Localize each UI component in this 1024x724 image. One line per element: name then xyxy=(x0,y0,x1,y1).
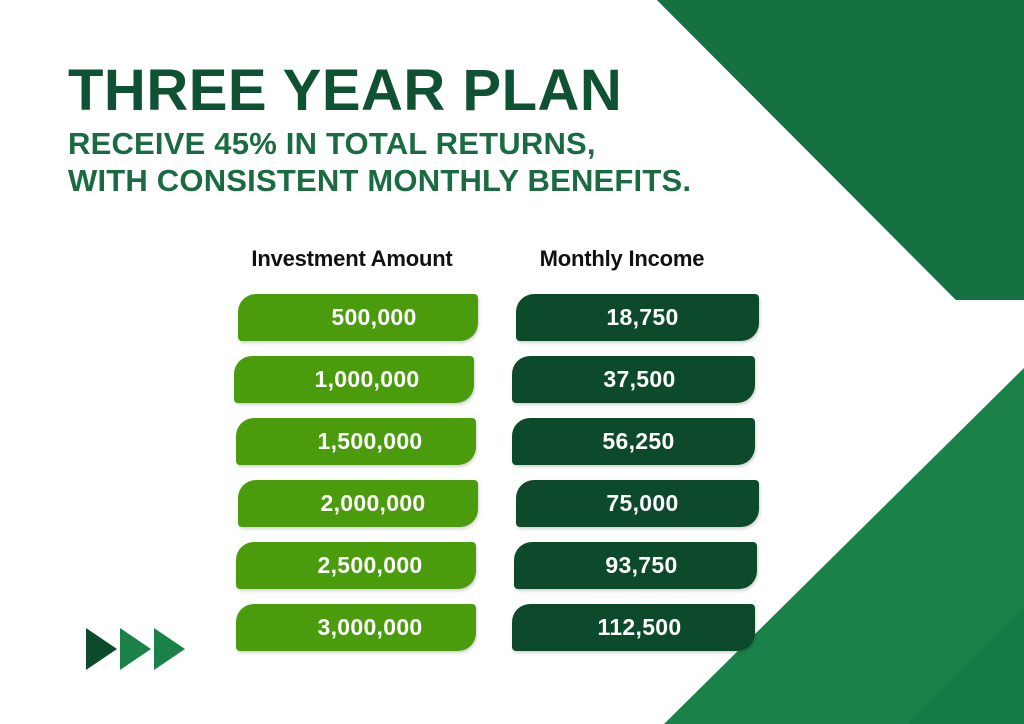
monthly-income-value: 18,750 xyxy=(606,304,678,331)
table-row: 1,000,000 37,500 xyxy=(228,348,768,410)
table-row: 2,500,000 93,750 xyxy=(228,534,768,596)
investment-amount-pill: 3,000,000 xyxy=(236,604,476,651)
monthly-income-value: 37,500 xyxy=(603,366,675,393)
page-title: THREE YEAR PLAN xyxy=(68,62,708,120)
table-row: 500,000 18,750 xyxy=(228,286,768,348)
column-header-monthly-income: Monthly Income xyxy=(476,246,768,272)
table-row: 3,000,000 112,500 xyxy=(228,596,768,658)
monthly-income-pill: 37,500 xyxy=(512,356,755,403)
investment-amount-value: 500,000 xyxy=(331,304,416,331)
monthly-income-pill: 18,750 xyxy=(516,294,759,341)
monthly-income-value: 112,500 xyxy=(598,614,682,641)
investment-amount-value: 2,500,000 xyxy=(317,552,422,579)
arrow-right-icon xyxy=(120,628,151,670)
table-row: 1,500,000 56,250 xyxy=(228,410,768,472)
monthly-income-pill: 75,000 xyxy=(516,480,759,527)
arrow-right-icon xyxy=(154,628,185,670)
investment-amount-value: 3,000,000 xyxy=(317,614,422,641)
page-subtitle-line-2: WITH CONSISTENT MONTHLY BENEFITS. xyxy=(68,163,708,200)
investment-amount-pill: 2,500,000 xyxy=(236,542,476,589)
investment-amount-value: 1,500,000 xyxy=(317,428,422,455)
arrow-marks xyxy=(86,628,185,670)
investment-amount-pill: 2,000,000 xyxy=(238,480,478,527)
monthly-income-pill: 112,500 xyxy=(512,604,755,651)
monthly-income-pill: 56,250 xyxy=(512,418,755,465)
page-subtitle-line-1: RECEIVE 45% IN TOTAL RETURNS, xyxy=(68,126,708,163)
monthly-income-value: 56,250 xyxy=(602,428,674,455)
arrow-right-icon xyxy=(86,628,117,670)
heading-block: THREE YEAR PLAN RECEIVE 45% IN TOTAL RET… xyxy=(68,62,708,199)
poster-canvas: THREE YEAR PLAN RECEIVE 45% IN TOTAL RET… xyxy=(0,0,1024,724)
monthly-income-value: 93,750 xyxy=(605,552,677,579)
investment-amount-pill: 1,500,000 xyxy=(236,418,476,465)
investment-amount-pill: 1,000,000 xyxy=(234,356,474,403)
diagonal-wedge-bottom-right-shadow xyxy=(908,608,1024,724)
table-rows: 500,000 18,750 1,000,000 37,500 1,500,00… xyxy=(228,286,768,658)
monthly-income-pill: 93,750 xyxy=(514,542,757,589)
column-header-investment-amount: Investment Amount xyxy=(228,246,476,272)
monthly-income-value: 75,000 xyxy=(606,490,678,517)
investment-amount-value: 2,000,000 xyxy=(320,490,425,517)
table-column-headers: Investment Amount Monthly Income xyxy=(228,246,768,272)
investment-table: Investment Amount Monthly Income 500,000… xyxy=(228,246,768,658)
table-row: 2,000,000 75,000 xyxy=(228,472,768,534)
investment-amount-pill: 500,000 xyxy=(238,294,478,341)
investment-amount-value: 1,000,000 xyxy=(314,366,419,393)
